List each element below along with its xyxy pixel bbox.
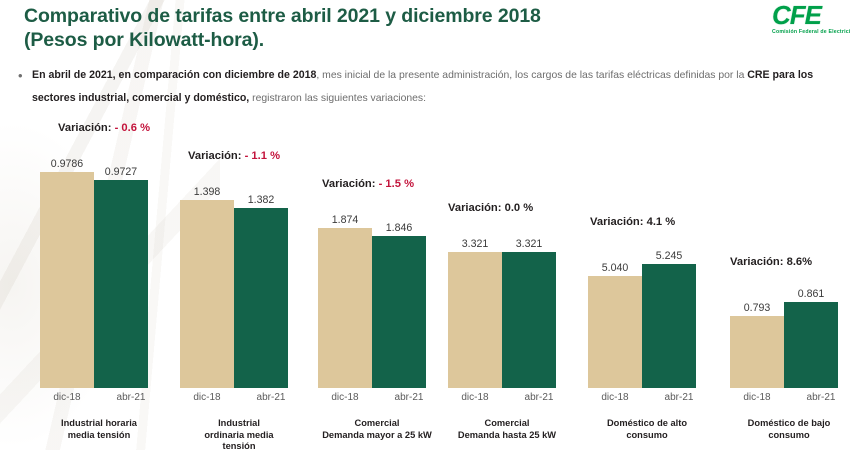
variation-label: Variación: - 1.1 %	[188, 150, 280, 162]
bar-rect-dic-18[interactable]	[180, 200, 234, 388]
variation-label: Variación: 8.6%	[730, 256, 812, 268]
bar-value-dic-18: 3.321	[462, 238, 489, 250]
variation-label: Variación: 0.0 %	[448, 202, 533, 214]
bar-value-abr-21: 1.382	[248, 194, 275, 206]
bar-pair: 3.3213.321	[448, 252, 556, 388]
variation-label: Variación: - 0.6 %	[58, 122, 150, 134]
bar-abr-21[interactable]: 3.321	[502, 252, 556, 388]
axis-tick-dic-18: dic-18	[588, 392, 642, 403]
bullet-paragraph: • En abril de 2021, en comparación con d…	[18, 64, 834, 110]
variation-caption-text: Variación:	[188, 150, 245, 162]
axis-tick-abr-21: abr-21	[244, 392, 298, 403]
axis-tick-abr-21: abr-21	[512, 392, 566, 403]
variation-percent-value: 0.0 %	[505, 202, 534, 214]
bar-pair: 0.7930.861	[730, 302, 838, 388]
cfe-logo-subtitle: Comisión Federal de Electricidad	[772, 29, 850, 35]
bar-abr-21[interactable]: 1.846	[372, 236, 426, 388]
axis-tick-dic-18: dic-18	[448, 392, 502, 403]
bar-abr-21[interactable]: 1.382	[234, 208, 288, 388]
bar-dic-18[interactable]: 3.321	[448, 252, 502, 388]
variation-caption-text: Variación:	[590, 216, 647, 228]
variation-percent-value: 4.1 %	[647, 216, 676, 228]
axis-tick-dic-18: dic-18	[318, 392, 372, 403]
variation-label: Variación: - 1.5 %	[322, 178, 414, 190]
category-label: Industrial horaria media tensión	[22, 418, 176, 441]
bar-rect-abr-21[interactable]	[642, 264, 696, 388]
bullet-marker-icon: •	[18, 64, 32, 110]
bar-pair: 5.0405.245	[588, 264, 696, 388]
bar-rect-dic-18[interactable]	[730, 316, 784, 388]
axis-tick-abr-21: abr-21	[652, 392, 706, 403]
bar-rect-dic-18[interactable]	[588, 276, 642, 388]
variation-label: Variación: 4.1 %	[590, 216, 675, 228]
variation-percent-value: - 1.5 %	[379, 178, 414, 190]
bar-value-abr-21: 0.861	[798, 288, 825, 300]
axis-tick-dic-18: dic-18	[730, 392, 784, 403]
variation-caption-text: Variación:	[322, 178, 379, 190]
bar-pair: 1.3981.382	[180, 200, 288, 388]
slide-header: Comparativo de tarifas entre abril 2021 …	[24, 4, 724, 52]
axis-tick-labels: dic-18abr-21	[180, 392, 298, 403]
bar-rect-abr-21[interactable]	[234, 208, 288, 388]
variation-percent-value: 8.6%	[787, 256, 813, 268]
bar-value-dic-18: 5.040	[602, 262, 629, 274]
bullet-segment-1: , mes inicial de la presente administrac…	[316, 70, 747, 81]
bar-dic-18[interactable]: 1.874	[318, 228, 372, 388]
bar-pair: 1.8741.846	[318, 228, 426, 388]
bar-abr-21[interactable]: 0.9727	[94, 180, 148, 388]
bar-value-dic-18: 0.9786	[51, 158, 83, 170]
axis-tick-dic-18: dic-18	[40, 392, 94, 403]
axis-tick-labels: dic-18abr-21	[730, 392, 848, 403]
variation-percent-value: - 0.6 %	[115, 122, 150, 134]
bar-rect-dic-18[interactable]	[318, 228, 372, 388]
bar-rect-abr-21[interactable]	[784, 302, 838, 388]
category-label: Comercial Demanda hasta 25 kW	[430, 418, 584, 441]
bar-rect-dic-18[interactable]	[448, 252, 502, 388]
bar-dic-18[interactable]: 5.040	[588, 276, 642, 388]
axis-tick-labels: dic-18abr-21	[318, 392, 436, 403]
axis-tick-labels: dic-18abr-21	[588, 392, 706, 403]
category-label: Doméstico de alto consumo	[570, 418, 724, 441]
cfe-logo: CFE Comisión Federal de Electricidad	[772, 2, 850, 42]
variation-caption-text: Variación:	[58, 122, 115, 134]
category-label: Doméstico de bajo consumo	[712, 418, 850, 441]
bar-value-abr-21: 0.9727	[105, 166, 137, 178]
bar-value-dic-18: 1.874	[332, 214, 359, 226]
axis-tick-abr-21: abr-21	[104, 392, 158, 403]
page-title: Comparativo de tarifas entre abril 2021 …	[24, 4, 724, 52]
cfe-logo-mark: CFE	[772, 2, 850, 28]
bar-value-abr-21: 1.846	[386, 222, 413, 234]
axis-tick-abr-21: abr-21	[382, 392, 436, 403]
axis-tick-labels: dic-18abr-21	[40, 392, 158, 403]
bullet-segment-3: registraron las siguientes variaciones:	[249, 93, 426, 104]
category-label: Industrial ordinaria media tensión	[162, 418, 316, 453]
variation-percent-value: - 1.1 %	[245, 150, 280, 162]
bar-chart: Variación: - 0.6 %0.97860.9727dic-18abr-…	[0, 110, 850, 450]
bar-value-dic-18: 1.398	[194, 186, 221, 198]
bar-dic-18[interactable]: 0.9786	[40, 172, 94, 388]
bar-value-abr-21: 5.245	[656, 250, 683, 262]
bar-pair: 0.97860.9727	[40, 172, 148, 388]
bar-rect-dic-18[interactable]	[40, 172, 94, 388]
bullet-paragraph-text: En abril de 2021, en comparación con dic…	[32, 64, 834, 110]
bar-rect-abr-21[interactable]	[372, 236, 426, 388]
axis-tick-dic-18: dic-18	[180, 392, 234, 403]
bar-abr-21[interactable]: 5.245	[642, 264, 696, 388]
bar-dic-18[interactable]: 1.398	[180, 200, 234, 388]
bar-value-dic-18: 0.793	[744, 302, 771, 314]
bar-rect-abr-21[interactable]	[94, 180, 148, 388]
bullet-segment-0: En abril de 2021, en comparación con dic…	[32, 69, 316, 81]
variation-caption-text: Variación:	[730, 256, 787, 268]
axis-tick-abr-21: abr-21	[794, 392, 848, 403]
bar-dic-18[interactable]: 0.793	[730, 316, 784, 388]
axis-tick-labels: dic-18abr-21	[448, 392, 566, 403]
bar-value-abr-21: 3.321	[516, 238, 543, 250]
bar-rect-abr-21[interactable]	[502, 252, 556, 388]
bar-abr-21[interactable]: 0.861	[784, 302, 838, 388]
variation-caption-text: Variación:	[448, 202, 505, 214]
